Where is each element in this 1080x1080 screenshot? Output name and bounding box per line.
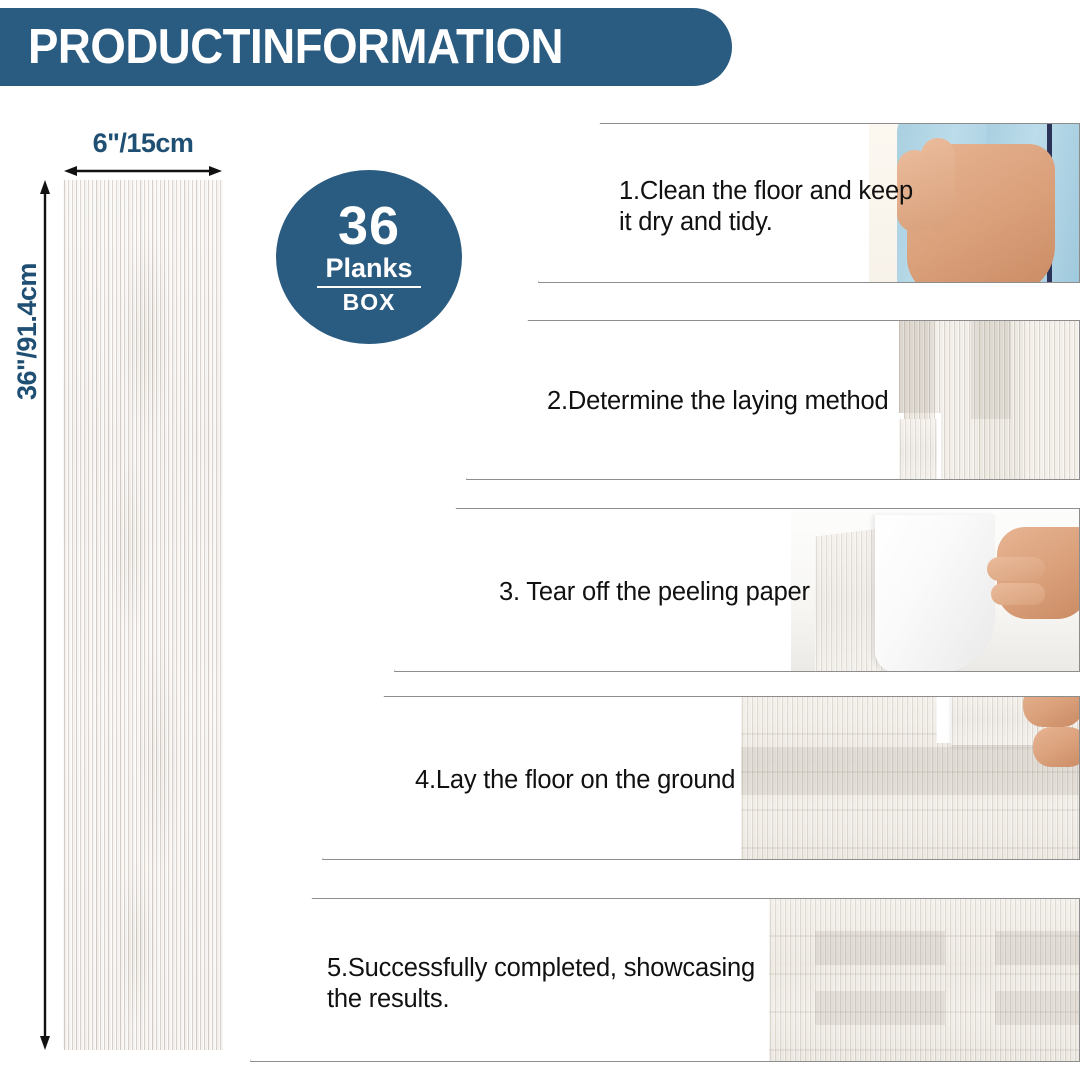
floor-shade-1 <box>815 931 945 965</box>
height-dimension-arrow <box>38 180 52 1050</box>
step-card-1: 1.Clean the floor and keep it dry and ti… <box>538 123 1080 283</box>
header-banner: PRODUCTINFORMATION <box>0 8 732 86</box>
plank-width-label: 6"/15cm <box>64 128 222 159</box>
step-card-3: 3. Tear off the peeling paper <box>394 508 1080 672</box>
badge-unit: Planks <box>325 254 412 284</box>
finger-2 <box>991 583 1045 605</box>
loose-plank <box>899 419 937 480</box>
step-4-text: 4.Lay the floor on the ground <box>415 765 815 796</box>
step-3-text: 3. Tear off the peeling paper <box>499 577 899 608</box>
floor-shade-4 <box>995 991 1079 1025</box>
step-2-text: 2.Determine the laying method <box>547 386 947 417</box>
badge-per: BOX <box>343 290 396 314</box>
step-card-5: 5.Successfully completed, showcasing the… <box>250 898 1080 1062</box>
badge-count: 36 <box>338 200 400 253</box>
hand-lower <box>1033 727 1080 767</box>
step-card-4: 4.Lay the floor on the ground <box>322 696 1080 860</box>
page-title: PRODUCTINFORMATION <box>28 19 563 75</box>
product-plank-image <box>63 180 223 1050</box>
floor-shade-2 <box>995 931 1079 965</box>
step-5-text: 5.Successfully completed, showcasing the… <box>327 953 767 1014</box>
planks-per-box-badge: 36 Planks BOX <box>276 170 462 344</box>
plank-shade-2 <box>971 321 1011 419</box>
finger-1 <box>987 557 1045 581</box>
width-dimension-arrow <box>64 164 222 178</box>
step-1-text: 1.Clean the floor and keep it dry and ti… <box>619 176 949 237</box>
floor-shade-3 <box>815 991 945 1025</box>
product-information-page: PRODUCTINFORMATION 6"/15cm 36"/91.4cm 36… <box>0 0 1080 1080</box>
badge-divider <box>317 286 421 288</box>
step-5-photo <box>769 899 1079 1061</box>
step-card-2: 2.Determine the laying method <box>466 320 1080 480</box>
hand-upper <box>1023 696 1080 727</box>
plank-gap <box>937 697 951 743</box>
